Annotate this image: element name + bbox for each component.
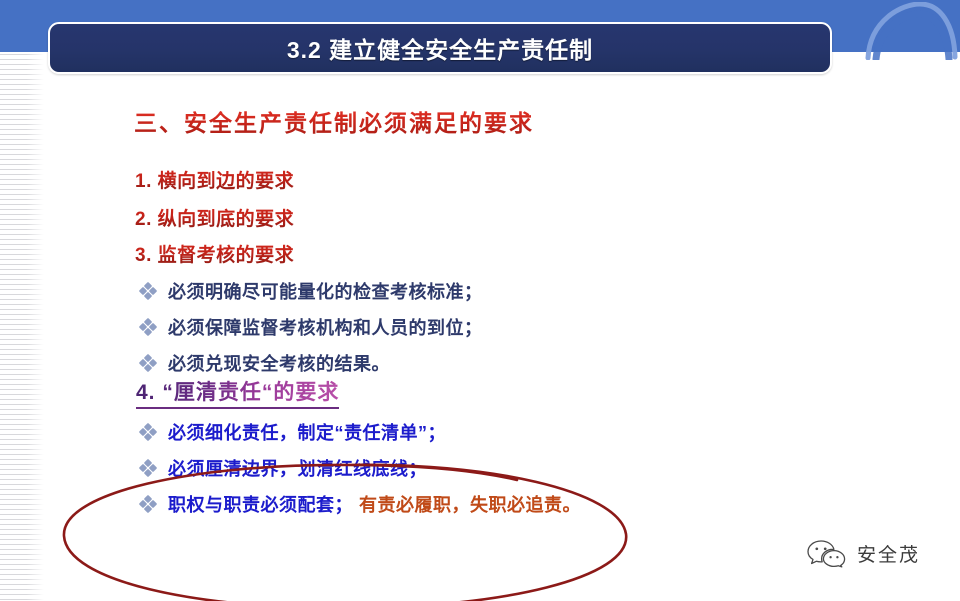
diamond-bullet-icon xyxy=(140,424,157,441)
bullet-label: 必须保障监督考核机构和人员的到位； xyxy=(168,314,483,340)
slide-canvas: 3.2 建立健全安全生产责任制 三、安全生产责任制必须满足的要求 1. 横向到边… xyxy=(0,0,960,601)
diamond-bullet-icon xyxy=(140,460,157,477)
bullet-item: 职权与职责必须配套； 有责必履职，失职必追责。 xyxy=(140,491,581,517)
brand-name: 安全茂 xyxy=(857,540,920,567)
bullet-item: 必须明确尽可能量化的检查考核标准； xyxy=(140,278,483,304)
bullet-item: 必须细化责任，制定“责任清单”； xyxy=(140,419,446,445)
bullet-item: 必须兑现安全考核的结果。 xyxy=(140,350,390,376)
wechat-icon xyxy=(806,538,848,568)
bullet-item: 必须厘清边界，划清红线底线； xyxy=(140,455,427,481)
bullet-label: 必须明确尽可能量化的检查考核标准； xyxy=(168,278,483,304)
numbered-item-1: 1. 横向到边的要求 xyxy=(135,166,294,193)
diamond-bullet-icon xyxy=(140,283,157,300)
diamond-bullet-icon xyxy=(140,496,157,513)
bullet-label: 必须细化责任，制定“责任清单”； xyxy=(168,419,446,445)
bullet-label: 必须厘清边界，划清红线底线； xyxy=(168,455,427,481)
slide-body: 三、安全生产责任制必须满足的要求 1. 横向到边的要求 2. 纵向到底的要求 3… xyxy=(0,88,960,588)
section-heading: 三、安全生产责任制必须满足的要求 xyxy=(134,104,534,138)
bullet-emphasis: 有责必履职，失职必追责。 xyxy=(359,491,581,517)
numbered-item-2: 2. 纵向到底的要求 xyxy=(135,204,294,231)
footer-brand: 安全茂 xyxy=(806,538,920,568)
diamond-bullet-icon xyxy=(140,355,157,372)
slide-title: 3.2 建立健全安全生产责任制 xyxy=(287,31,593,65)
numbered-item-4: 4. “厘清责任“的要求 xyxy=(136,376,339,409)
bullet-item: 必须保障监督考核机构和人员的到位； xyxy=(140,314,483,340)
numbered-item-3: 3. 监督考核的要求 xyxy=(135,240,294,267)
bullet-label: 必须兑现安全考核的结果。 xyxy=(168,350,390,376)
bullet-label: 职权与职责必须配套； xyxy=(168,491,353,517)
slide-title-bar: 3.2 建立健全安全生产责任制 xyxy=(48,22,832,74)
diamond-bullet-icon xyxy=(140,319,157,336)
